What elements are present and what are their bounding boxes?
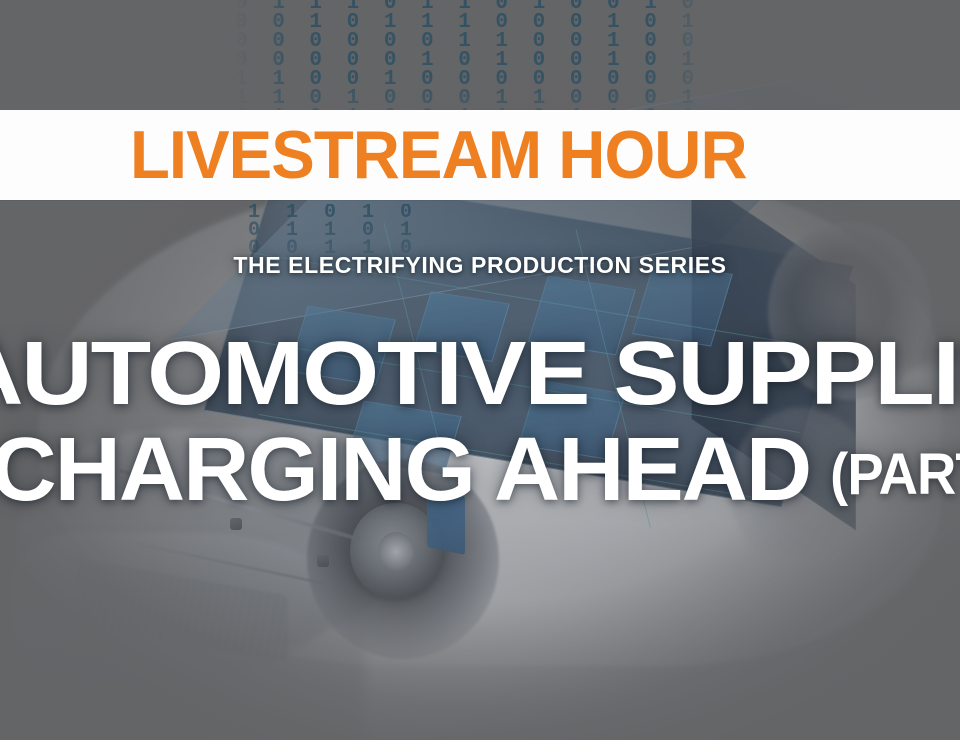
livestream-banner: LIVESTREAM HOUR	[0, 110, 960, 200]
series-eyebrow-text: THE ELECTRIFYING PRODUCTION SERIES	[0, 252, 960, 279]
livestream-promo-poster: 0 1 1 1 0 1 1 0 1 0 0 1 0 1 0 1 0 1 0 0 …	[0, 0, 960, 740]
banner-title: LIVESTREAM HOUR	[130, 121, 747, 189]
